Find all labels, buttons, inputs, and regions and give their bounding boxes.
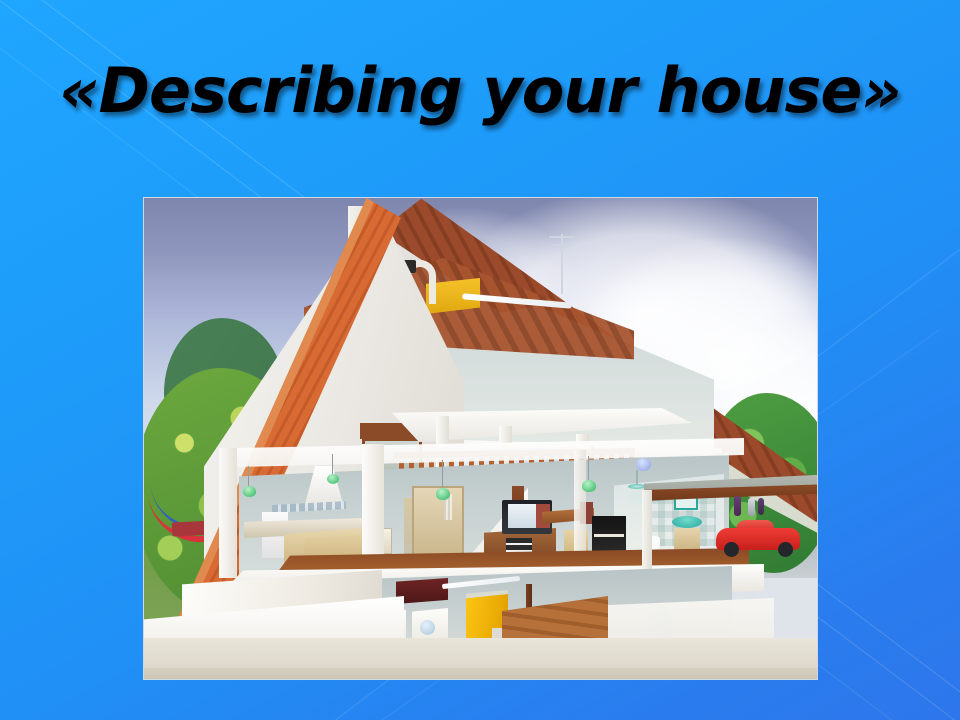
- tv-antenna-icon: [549, 236, 575, 238]
- car-wheel: [724, 542, 739, 557]
- car-wheel: [778, 542, 793, 557]
- pedestrian-figure: [748, 498, 755, 516]
- outdoor-ground-foreground: [144, 668, 818, 680]
- pendant-lamp: [243, 486, 256, 497]
- pendant-lamp: [582, 480, 596, 492]
- pedestrian-figure: [734, 496, 741, 516]
- washing-machine-door: [420, 620, 435, 635]
- pendant-lamp: [327, 474, 339, 484]
- tv-antenna-icon: [553, 244, 571, 246]
- pendant-lamp-cord: [588, 456, 589, 482]
- house-cutaway-image: [143, 197, 818, 680]
- slide-title: «Describing your house»: [0, 58, 960, 123]
- shower-head: [628, 484, 646, 489]
- bathroom-cabinet: [674, 528, 700, 550]
- presentation-slide: «Describing your house»: [0, 0, 960, 720]
- bathroom-sink: [672, 516, 702, 528]
- tv-antenna-icon: [561, 234, 563, 294]
- pendant-lamp-cord: [248, 466, 249, 488]
- pendant-lamp-cord: [442, 460, 443, 490]
- pendant-lamp: [436, 488, 450, 500]
- shelf-divider: [594, 534, 624, 537]
- pedestrian-figure: [758, 498, 764, 515]
- structural-column: [219, 448, 237, 578]
- pendant-lamp: [636, 458, 651, 471]
- pendant-lamp-cord: [332, 454, 333, 476]
